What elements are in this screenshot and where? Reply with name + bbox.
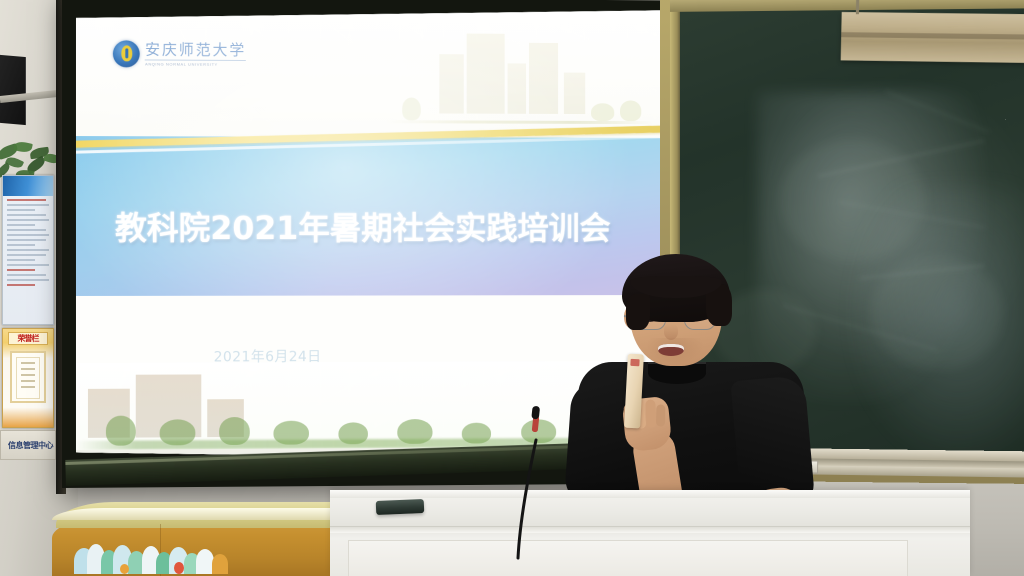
poster-line	[7, 214, 46, 216]
poster-line	[7, 219, 49, 221]
campus-artwork	[386, 17, 655, 133]
poster-line	[7, 209, 35, 211]
lecture-hall-photo: 荣誉栏 信息管理中心	[0, 0, 1024, 576]
poster-line	[7, 264, 49, 266]
podium-lip	[330, 526, 970, 533]
poster-header-bar	[3, 176, 53, 196]
certificate-inner	[16, 357, 40, 399]
poster-line	[7, 204, 49, 206]
honor-roll-title: 荣誉栏	[8, 332, 48, 345]
university-logo: 安庆师范大学 ANQING NORMAL UNIVERSITY	[113, 41, 246, 69]
slide-date: 2021年6月24日	[214, 346, 322, 366]
university-emblem-icon	[113, 41, 140, 68]
presenter-mouth	[658, 344, 684, 356]
blackboard-top-edge	[670, 0, 1024, 12]
notice-board-poster	[2, 175, 54, 325]
university-wordmark: 安庆师范大学 ANQING NORMAL UNIVERSITY	[145, 42, 246, 66]
podium-top-surface	[330, 490, 970, 498]
remote-indicator	[630, 359, 639, 366]
certificate-thumbnail	[10, 351, 46, 403]
poster-line	[7, 259, 35, 261]
poster-line	[7, 239, 46, 241]
poster-line	[7, 269, 35, 271]
lecture-podium	[330, 490, 970, 576]
poster-line	[7, 234, 49, 236]
poster-line	[7, 224, 35, 226]
poster-line	[7, 274, 46, 276]
honor-roll-poster: 荣誉栏	[2, 328, 54, 428]
poster-line	[7, 279, 49, 281]
blackboard-glare-secondary	[845, 186, 1024, 470]
poster-line	[7, 249, 49, 251]
university-name-en: ANQING NORMAL UNIVERSITY	[145, 62, 246, 67]
podium-front-panel	[348, 540, 908, 576]
wall-speaker	[0, 55, 26, 125]
microphone-icon	[480, 400, 600, 560]
blackboard-upper-rail	[841, 12, 1024, 63]
rail-support-rod	[856, 0, 859, 14]
counter-edge	[52, 508, 352, 520]
info-center-sign-label: 信息管理中心	[8, 440, 53, 451]
counter-floral-decoration	[74, 542, 232, 576]
slide-title: 教科院2021年暑期社会实践培训会	[115, 203, 611, 249]
university-name-cn: 安庆师范大学	[145, 42, 246, 58]
poster-line	[7, 229, 46, 231]
wooden-counter	[52, 498, 352, 576]
info-center-sign: 信息管理中心	[0, 430, 56, 460]
poster-line	[7, 284, 35, 286]
blackboard-eraser	[376, 499, 425, 515]
poster-line	[7, 254, 46, 256]
poster-line	[7, 199, 46, 201]
gooseneck-microphone	[480, 400, 600, 560]
poster-line	[7, 244, 35, 246]
